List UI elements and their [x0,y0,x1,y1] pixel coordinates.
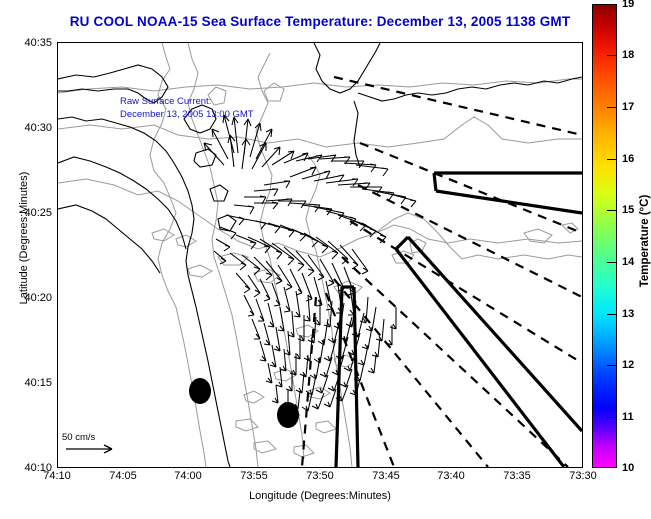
x-tick-5: 73:45 [372,470,400,482]
colorbar-tick-14: 14 [622,256,634,268]
x-tick-3: 73:55 [240,470,268,482]
x-tick-6: 73:40 [437,470,465,482]
colorbar [592,4,617,468]
colorbar-tick-15: 15 [622,204,634,216]
colorbar-tickmark-11 [607,417,617,418]
x-tick-7: 73:35 [503,470,531,482]
scale-reference-arrow [66,445,112,453]
colorbar-tick-12: 12 [622,359,634,371]
colorbar-tickmark-13 [607,314,617,315]
colorbar-tickmark-14 [607,262,617,263]
map-plot-area: Raw Surface Current: December 13, 2005 1… [57,42,583,468]
radar-station-markers [189,378,299,428]
colorbar-tick-16: 16 [622,153,634,165]
figure-title: RU COOL NOAA-15 Sea Surface Temperature:… [57,14,583,29]
y-tick-4: 40:15 [24,377,52,389]
y-tick-5: 40:10 [24,462,52,474]
colorbar-label: Temperature (°C) [639,141,651,341]
colorbar-tickmark-16 [607,159,617,160]
x-tick-2: 74:00 [174,470,202,482]
colorbar-tick-10: 10 [622,462,634,474]
colorbar-tick-11: 11 [622,411,634,423]
colorbar-tickmark-17 [607,107,617,108]
x-tick-4: 73:50 [306,470,334,482]
colorbar-tickmark-15 [607,210,617,211]
x-axis-label: Longitude (Degrees:Minutes) [57,490,583,502]
x-tick-1: 74:05 [109,470,137,482]
y-axis-label: Latitude (Degrees:Minutes) [18,138,30,338]
colorbar-tick-18: 18 [622,49,634,61]
x-tick-8: 73:30 [569,470,597,482]
annotation-line-2: December 13, 2005 13:00 GMT [120,108,254,121]
sst-map-figure: RU COOL NOAA-15 Sea Surface Temperature:… [0,0,651,519]
colorbar-tickmark-18 [607,55,617,56]
annotation-line-1: Raw Surface Current: [120,95,211,108]
colorbar-tick-13: 13 [622,308,634,320]
colorbar-tick-17: 17 [622,101,634,113]
y-tick-1: 40:30 [24,122,52,134]
y-tick-0: 40:35 [24,37,52,49]
scale-bar-label: 50 cm/s [62,432,95,443]
colorbar-tick-19: 19 [622,0,634,10]
colorbar-tickmark-12 [607,365,617,366]
